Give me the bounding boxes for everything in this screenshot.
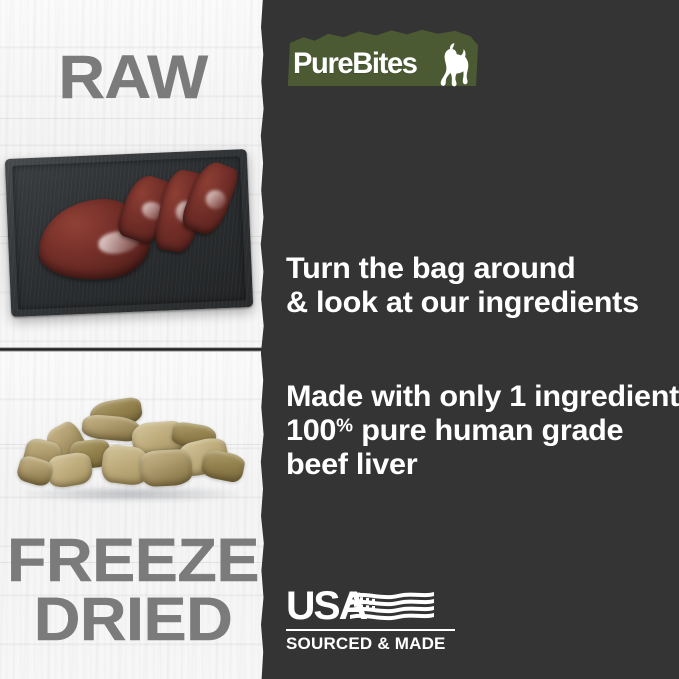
raw-liver-photo — [8, 148, 256, 320]
headline-1-line-2: & look at our ingredients — [286, 286, 639, 320]
usa-sourced-made-badge: USA — [286, 588, 466, 628]
liver-chunk — [139, 449, 193, 488]
headline-2-line-3: beef liver — [286, 448, 679, 482]
liver-chunk — [46, 450, 95, 489]
headline-2-line-1: Made with only 1 ingredient: — [286, 380, 679, 414]
usa-subtitle: SOURCED & MADE — [286, 634, 446, 654]
headline-2-line-2: 100% pure human grade — [286, 414, 679, 448]
usa-divider-rule — [286, 629, 455, 631]
american-flag-icon — [348, 590, 434, 623]
stage-label-line-2: DRIED — [0, 590, 266, 649]
stage-label-raw: RAW — [0, 48, 266, 107]
freeze-dried-liver-photo — [6, 382, 262, 514]
stage-label-freeze-dried: FREEZE DRIED — [0, 531, 266, 648]
pile-shadow — [22, 486, 240, 502]
right-message-column: PureBites Turn the bag around & look at … — [266, 0, 679, 679]
product-infographic: RAW — [0, 0, 679, 679]
panel-divider — [0, 347, 266, 352]
liver-chunk — [200, 448, 247, 483]
headline-2-percent-value: 100 — [286, 414, 336, 447]
headline-turn-the-bag: Turn the bag around & look at our ingred… — [286, 252, 639, 320]
logo-wordmark: PureBites — [293, 47, 417, 81]
headline-one-ingredient: Made with only 1 ingredient: 100% pure h… — [286, 380, 679, 483]
purebites-logo: PureBites — [286, 28, 478, 90]
sitting-dog-icon — [430, 40, 472, 88]
headline-1-line-1: Turn the bag around — [286, 252, 639, 286]
stage-label-line-1: FREEZE — [0, 531, 266, 590]
headline-2-line-2-rest: pure human grade — [353, 414, 623, 447]
left-photo-column: RAW — [0, 0, 266, 679]
headline-2-percent-symbol: % — [336, 415, 353, 436]
